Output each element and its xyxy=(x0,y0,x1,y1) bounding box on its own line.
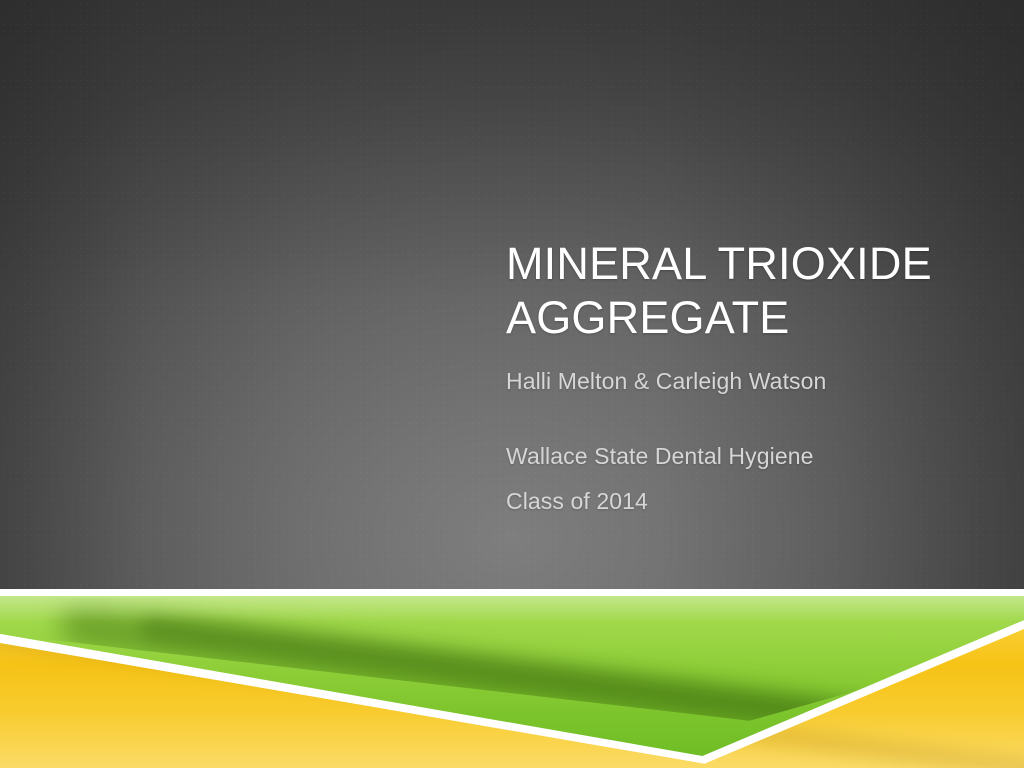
bottom-decoration-band xyxy=(0,589,1024,768)
subtitle-list: Halli Melton & Carleigh Watson Wallace S… xyxy=(506,359,976,524)
subtitle-authors: Halli Melton & Carleigh Watson xyxy=(506,359,976,404)
subtitle-spacer xyxy=(506,404,976,434)
title-text-block: Mineral Trioxide Aggregate Halli Melton … xyxy=(506,237,976,524)
subtitle-class-year: Class of 2014 xyxy=(506,479,976,524)
subtitle-institution: Wallace State Dental Hygiene xyxy=(506,434,976,479)
presentation-slide: Mineral Trioxide Aggregate Halli Melton … xyxy=(0,0,1024,768)
band-top-divider xyxy=(0,589,1024,596)
slide-title: Mineral Trioxide Aggregate xyxy=(506,237,976,345)
band-body xyxy=(0,596,1024,768)
